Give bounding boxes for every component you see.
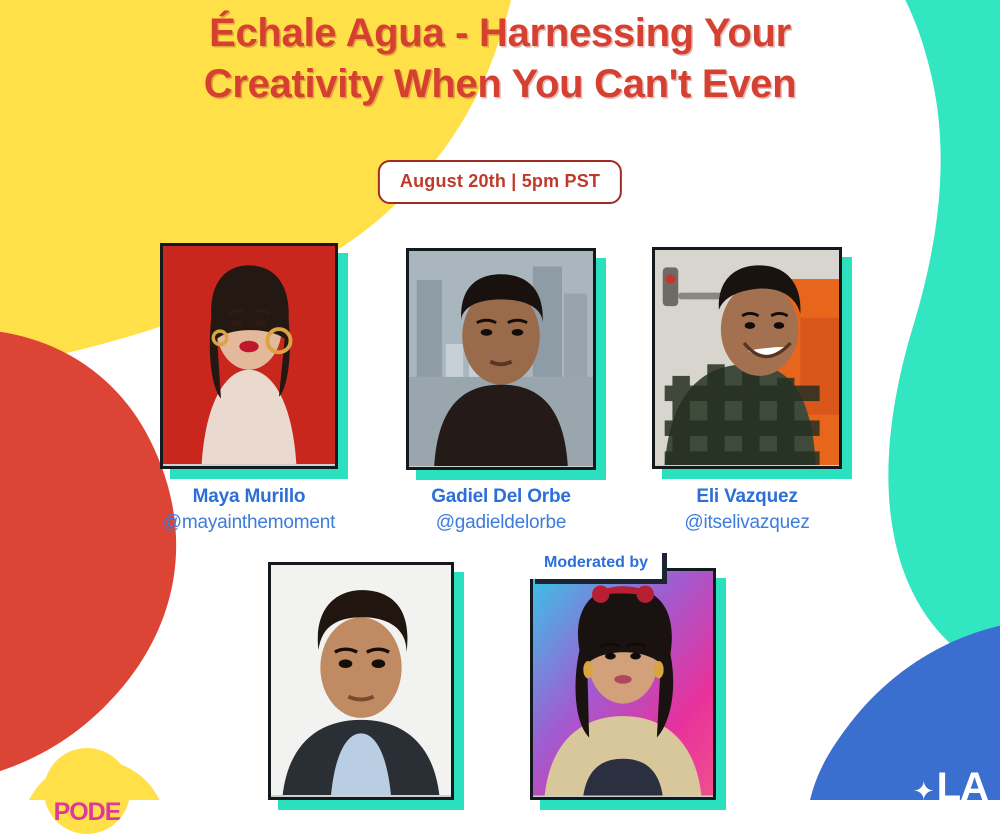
photo-frame-1	[160, 243, 338, 469]
speaker-photo-3	[652, 247, 842, 469]
speaker-name-block-2: Gadiel Del Orbe @gadieldelorbe	[371, 484, 631, 535]
speaker-photo-2	[406, 248, 596, 470]
speaker-card-2	[406, 248, 596, 470]
logo-la: ✦ LA	[913, 768, 988, 806]
speaker-photo-4	[268, 562, 454, 800]
moderator-card	[530, 568, 716, 800]
speaker-handle-2: @gadieldelorbe	[371, 510, 631, 536]
page-title: Échale Agua - Harnessing Your Creativity…	[0, 8, 1000, 110]
speaker-handle-3: @itselivazquez	[617, 510, 877, 536]
logo-podemos-text: PODE	[44, 798, 130, 827]
photo-frame-2	[406, 248, 596, 470]
logo-podemos: PODE	[44, 748, 130, 834]
speaker-card-4	[268, 562, 454, 800]
logo-la-text: LA	[937, 768, 988, 806]
speaker-photo-1	[160, 243, 338, 469]
speaker-handle-1: @mayainthemoment	[119, 510, 379, 536]
moderated-by-tag: Moderated by	[530, 548, 662, 579]
event-date-badge: August 20th | 5pm PST	[378, 160, 622, 204]
speaker-name-3: Eli Vazquez	[617, 484, 877, 510]
speaker-name-block-3: Eli Vazquez @itselivazquez	[617, 484, 877, 535]
photo-frame-3	[652, 247, 842, 469]
speaker-name-2: Gadiel Del Orbe	[371, 484, 631, 510]
speaker-card-1	[160, 243, 338, 469]
moderator-photo	[530, 568, 716, 800]
photo-frame-4	[268, 562, 454, 800]
title-line-1: Échale Agua - Harnessing Your	[0, 8, 1000, 59]
speaker-card-3	[652, 247, 842, 469]
title-line-2: Creativity When You Can't Even	[0, 59, 1000, 110]
speaker-name-1: Maya Murillo	[119, 484, 379, 510]
star-icon: ✦	[913, 778, 935, 804]
photo-frame-moderator	[530, 568, 716, 800]
speaker-name-block-1: Maya Murillo @mayainthemoment	[119, 484, 379, 535]
